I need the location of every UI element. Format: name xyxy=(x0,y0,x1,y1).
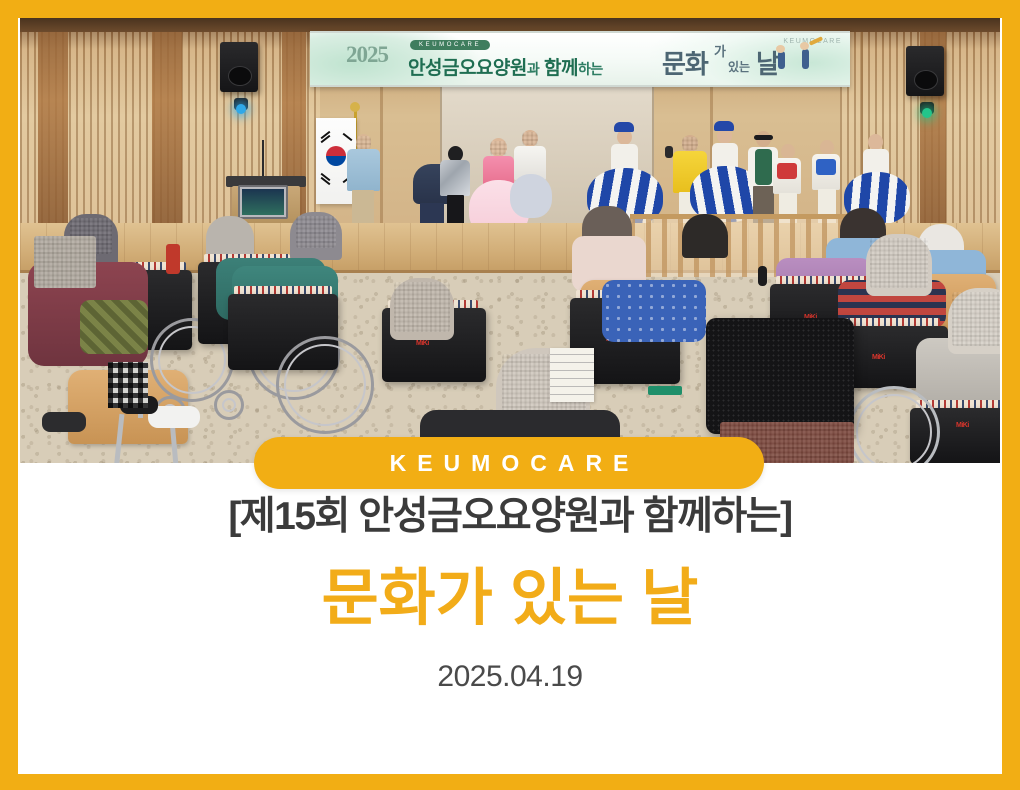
light-beam-blue xyxy=(236,104,246,114)
banner-year: 2025 xyxy=(346,42,388,68)
banner-brand-pill: KEUMOCARE xyxy=(410,40,490,50)
blurred-face xyxy=(394,282,450,332)
hanbok-chima xyxy=(510,174,552,218)
microphone-stand xyxy=(262,140,264,176)
checkered-trousers xyxy=(108,362,148,408)
flag-finial xyxy=(350,102,360,112)
blurred-face xyxy=(870,238,928,288)
blurred-face xyxy=(356,136,371,149)
blurred-face xyxy=(682,137,698,150)
stage-light-right xyxy=(920,102,934,114)
event-subtitle: [제15회 안성금오요양원과 함께하는] xyxy=(18,495,1002,540)
blurred-face xyxy=(490,141,507,155)
banner-main-text: 안성금오요양원과 함께하는 xyxy=(408,53,603,80)
performer-sequin-jacket xyxy=(440,160,470,196)
banner-title-itneun: 있는 xyxy=(728,58,750,75)
performer-jacket xyxy=(347,149,380,191)
keumocare-badge: KEUMOCARE xyxy=(254,437,764,489)
blurred-face xyxy=(952,292,1000,346)
wheelchair-brand: MiKi xyxy=(416,340,429,347)
banner-dancer-head xyxy=(800,42,809,50)
performer-head xyxy=(781,144,795,159)
event-title: 문화가 있는 날 xyxy=(18,562,1002,636)
badge-label: KEUMOCARE xyxy=(379,450,640,477)
fire-extinguisher xyxy=(166,244,180,274)
banner-dancer-figure xyxy=(778,51,785,69)
laptop xyxy=(238,185,288,219)
banner-particle: 과 xyxy=(527,61,539,77)
stage-light-left xyxy=(234,98,248,110)
banner-dancer-head xyxy=(776,45,785,53)
banner-doing: 하는 xyxy=(578,61,603,77)
stage-banner: 2025 KEUMOCARE 안성금오요양원과 함께하는 문화 가 있는 날 K… xyxy=(310,31,850,87)
taegeuk-symbol xyxy=(326,146,346,166)
event-date: 2025.04.19 xyxy=(18,660,1002,694)
blurred-face xyxy=(522,132,538,145)
banner-together: 함께 xyxy=(544,58,578,79)
performer-head xyxy=(868,134,883,150)
wheelchair-handle xyxy=(758,266,767,286)
wood-column xyxy=(38,18,68,223)
dancer-headpiece xyxy=(714,121,734,131)
performer-head xyxy=(820,140,834,155)
banner-title-ga: 가 xyxy=(714,41,726,60)
ceiling-band xyxy=(20,18,1000,32)
performer-print xyxy=(816,159,836,175)
performer-vest xyxy=(755,149,772,185)
event-photo: 2025 KEUMOCARE 안성금오요양원과 함께하는 문화 가 있는 날 K… xyxy=(20,18,1000,463)
light-beam-green xyxy=(922,108,932,118)
performer-print xyxy=(777,163,797,179)
resident-shirt-pattern xyxy=(602,280,706,342)
banner-dancer-figure xyxy=(802,49,809,69)
banner-title-culture: 문화 xyxy=(662,44,708,81)
banner-org-name: 안성금오요양원 xyxy=(408,58,527,79)
speaker-right xyxy=(906,46,944,96)
audience-head-far xyxy=(682,214,728,258)
blurred-face xyxy=(34,236,96,288)
dancer-headpiece xyxy=(614,122,634,132)
wheelchair-brand: MiKi xyxy=(956,422,969,429)
wheelchair-brand: MiKi xyxy=(872,354,885,361)
sunglasses xyxy=(754,135,773,140)
promo-card: 2025 KEUMOCARE 안성금오요양원과 함께하는 문화 가 있는 날 K… xyxy=(0,0,1020,790)
wheelchair-tag xyxy=(648,386,682,395)
wood-column xyxy=(152,18,182,223)
trigram xyxy=(343,133,353,141)
blurred-face xyxy=(296,216,336,248)
caption-block: [제15회 안성금오요양원과 함께하는] 문화가 있는 날 2025.04.19 xyxy=(18,495,1002,694)
laptop-screen xyxy=(242,189,284,215)
wheelchair-mesh-backrest xyxy=(706,318,854,434)
speaker-left xyxy=(220,42,258,92)
printed-sheet xyxy=(550,348,594,402)
wheelchair-caster xyxy=(214,390,244,420)
handheld-microphone xyxy=(665,146,673,158)
wheelchair-wheel xyxy=(276,336,374,434)
shoe xyxy=(42,412,86,432)
lap-blanket xyxy=(80,300,148,354)
